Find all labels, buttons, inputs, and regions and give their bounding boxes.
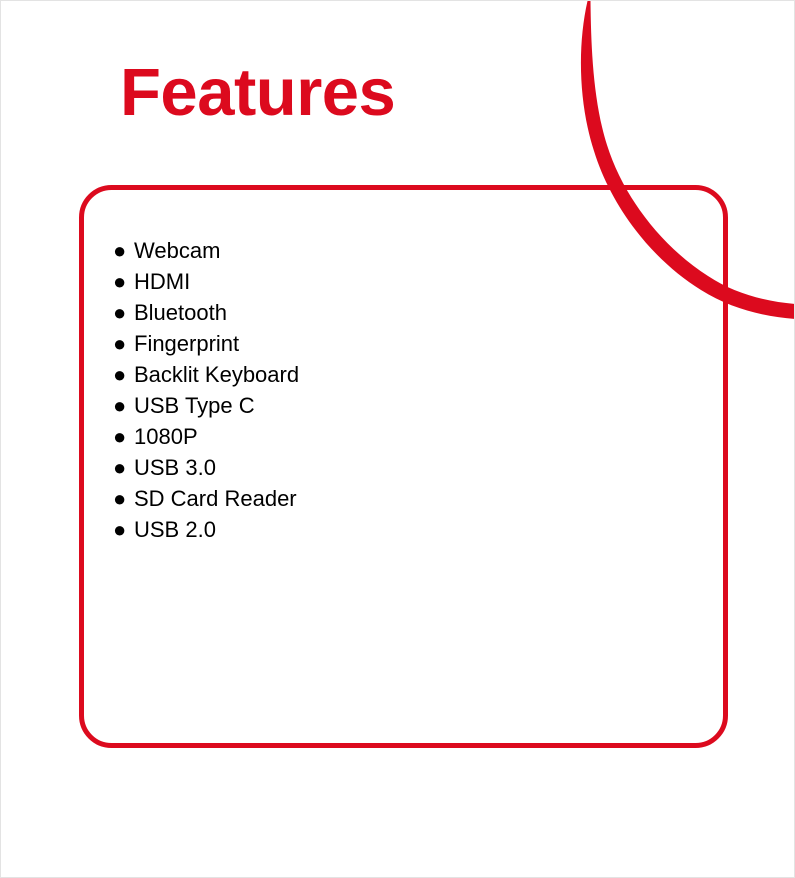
bullet-icon: ● <box>113 328 126 359</box>
bullet-icon: ● <box>113 421 126 452</box>
list-item-label: Fingerprint <box>134 331 239 356</box>
list-item: ● HDMI <box>113 266 673 297</box>
list-item: ● USB 2.0 <box>113 514 673 545</box>
features-slide: Features ● Webcam ● HDMI ● Bluetooth ● F… <box>0 0 795 878</box>
bullet-icon: ● <box>113 235 126 266</box>
list-item-label: Webcam <box>134 238 220 263</box>
list-item: ● SD Card Reader <box>113 483 673 514</box>
list-item-label: Backlit Keyboard <box>134 362 299 387</box>
bullet-icon: ● <box>113 297 126 328</box>
bullet-icon: ● <box>113 390 126 421</box>
feature-list: ● Webcam ● HDMI ● Bluetooth ● Fingerprin… <box>113 235 673 545</box>
list-item: ● Webcam <box>113 235 673 266</box>
bullet-icon: ● <box>113 359 126 390</box>
bullet-icon: ● <box>113 483 126 514</box>
list-item-label: USB 3.0 <box>134 455 216 480</box>
list-item-label: 1080P <box>134 424 198 449</box>
list-item-label: HDMI <box>134 269 190 294</box>
list-item: ● USB 3.0 <box>113 452 673 483</box>
list-item-label: USB Type C <box>134 393 255 418</box>
list-item-label: SD Card Reader <box>134 486 297 511</box>
list-item: ● USB Type C <box>113 390 673 421</box>
bullet-icon: ● <box>113 266 126 297</box>
list-item-label: Bluetooth <box>134 300 227 325</box>
list-item-label: USB 2.0 <box>134 517 216 542</box>
list-item: ● 1080P <box>113 421 673 452</box>
list-item: ● Backlit Keyboard <box>113 359 673 390</box>
list-item: ● Fingerprint <box>113 328 673 359</box>
bullet-icon: ● <box>113 514 126 545</box>
page-title: Features <box>120 59 395 126</box>
list-item: ● Bluetooth <box>113 297 673 328</box>
bullet-icon: ● <box>113 452 126 483</box>
